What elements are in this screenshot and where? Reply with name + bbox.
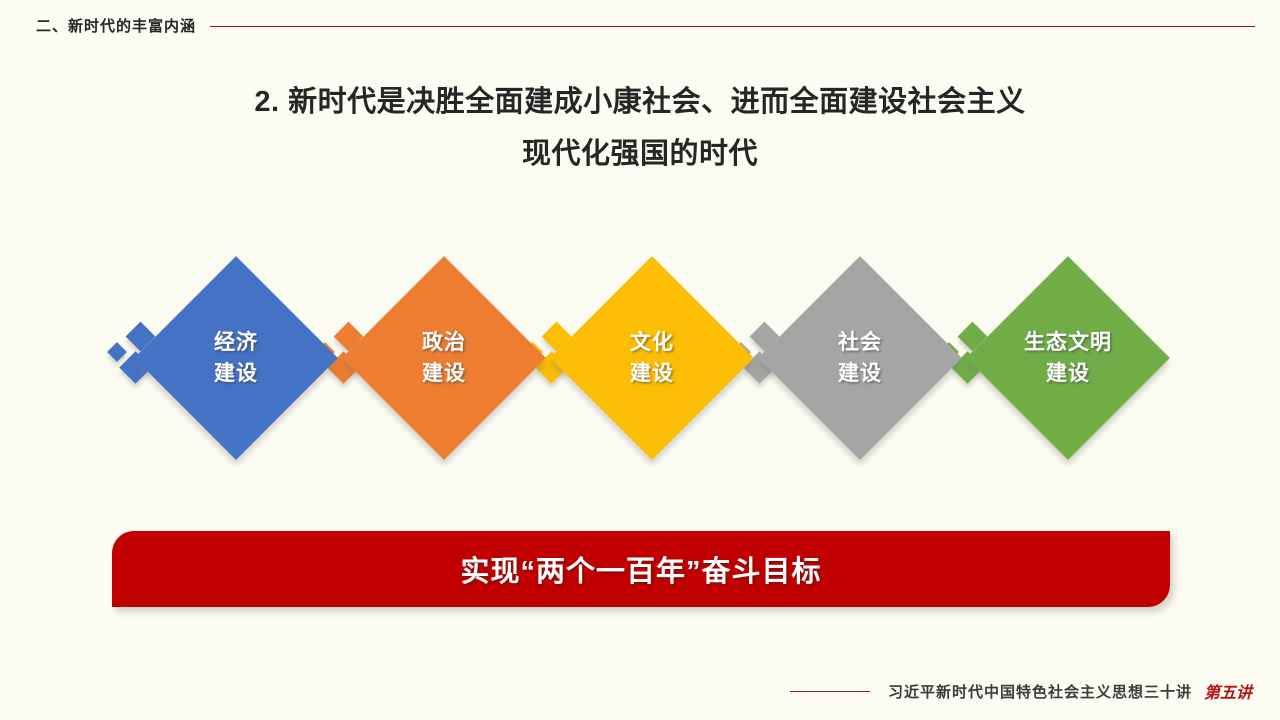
goal-banner: 实现“两个一百年”奋斗目标 xyxy=(112,531,1170,607)
five-in-one-diagram: 经济 建设 政治 建设 文化 建设 社会 建设 生态文明 建设 xyxy=(0,262,1280,472)
diamond-shape xyxy=(966,256,1170,460)
slide-header: 二、新时代的丰富内涵 xyxy=(0,8,1280,42)
diamond-node-political[interactable]: 政治 建设 xyxy=(348,262,540,454)
section-label: 二、新时代的丰富内涵 xyxy=(36,15,196,36)
diamond-shape xyxy=(758,256,962,460)
diamond-node-economic[interactable]: 经济 建设 xyxy=(140,262,332,454)
diamond-node-ecological[interactable]: 生态文明 建设 xyxy=(972,262,1164,454)
goal-banner-text: 实现“两个一百年”奋斗目标 xyxy=(460,548,821,590)
diamond-node-social[interactable]: 社会 建设 xyxy=(764,262,956,454)
header-divider-line xyxy=(210,26,1255,27)
diamond-shape xyxy=(134,256,338,460)
diamond-shape xyxy=(342,256,546,460)
footer-series-title: 习近平新时代中国特色社会主义思想三十讲 xyxy=(888,681,1192,702)
title-line-2: 现代化强国的时代 xyxy=(0,128,1280,180)
slide-footer: 习近平新时代中国特色社会主义思想三十讲 第五讲 xyxy=(0,676,1280,706)
slide-title: 2. 新时代是决胜全面建成小康社会、进而全面建设社会主义 现代化强国的时代 xyxy=(0,76,1280,180)
diamond-shape xyxy=(550,256,754,460)
diamond-node-cultural[interactable]: 文化 建设 xyxy=(556,262,748,454)
title-line-1: 2. 新时代是决胜全面建成小康社会、进而全面建设社会主义 xyxy=(0,76,1280,128)
footer-lecture-badge: 第五讲 xyxy=(1204,679,1252,703)
connector-diamond-small xyxy=(107,342,127,362)
footer-divider-line xyxy=(790,691,870,692)
